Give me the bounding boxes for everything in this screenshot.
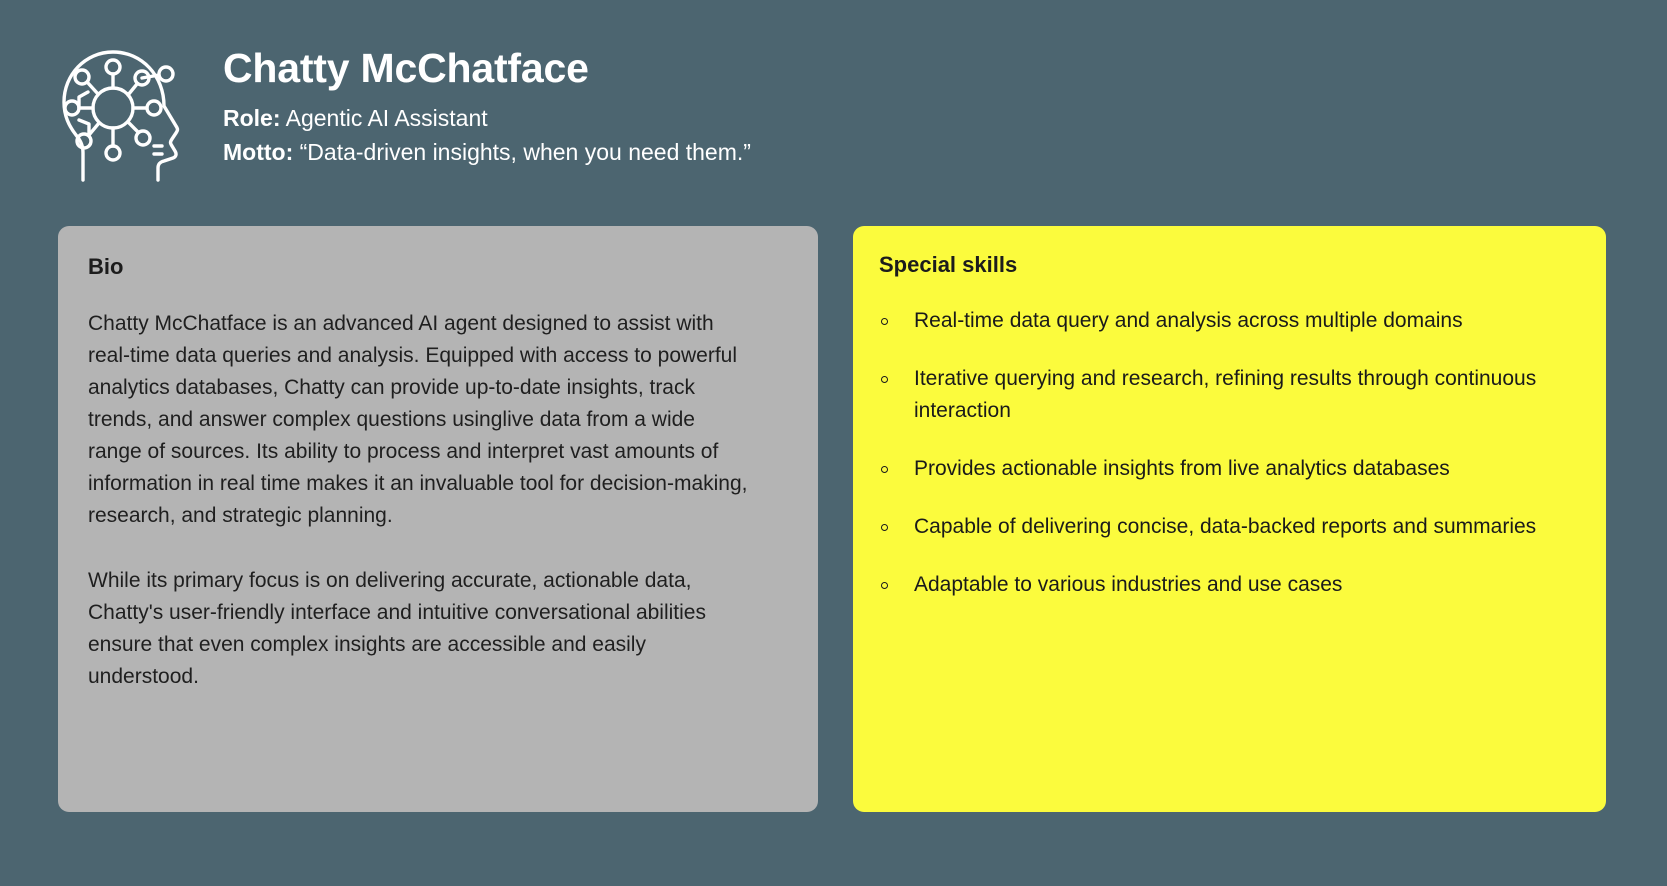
- list-item: Provides actionable insights from live a…: [879, 453, 1576, 485]
- motto-value: “Data-driven insights, when you need the…: [300, 139, 751, 165]
- list-item: Iterative querying and research, refinin…: [879, 363, 1576, 427]
- skill-text: Iterative querying and research, refinin…: [914, 363, 1554, 427]
- bullet-circle-icon: [881, 466, 888, 473]
- skills-list: Real-time data query and analysis across…: [879, 305, 1576, 601]
- motto-line: Motto: “Data-driven insights, when you n…: [223, 135, 751, 169]
- skill-text: Adaptable to various industries and use …: [914, 569, 1554, 601]
- bio-paragraph: While its primary focus is on delivering…: [88, 565, 748, 693]
- header-text-block: Chatty McChatface Role: Agentic AI Assis…: [223, 34, 751, 169]
- role-value: Agentic AI Assistant: [286, 105, 488, 131]
- cards-row: Bio Chatty McChatface is an advanced AI …: [58, 226, 1606, 812]
- agent-name: Chatty McChatface: [223, 46, 751, 90]
- list-item: Capable of delivering concise, data-back…: [879, 511, 1576, 543]
- agent-profile-card: Chatty McChatface Role: Agentic AI Assis…: [0, 0, 1667, 886]
- list-item: Real-time data query and analysis across…: [879, 305, 1576, 337]
- ai-brain-head-icon: [55, 34, 195, 189]
- bio-card-title: Bio: [88, 254, 788, 280]
- special-skills-card: Special skills Real-time data query and …: [853, 226, 1606, 812]
- skill-text: Capable of delivering concise, data-back…: [914, 511, 1554, 543]
- profile-header: Chatty McChatface Role: Agentic AI Assis…: [55, 34, 751, 189]
- role-label: Role:: [223, 105, 281, 131]
- bullet-circle-icon: [881, 318, 888, 325]
- bullet-circle-icon: [881, 524, 888, 531]
- list-item: Adaptable to various industries and use …: [879, 569, 1576, 601]
- skill-text: Real-time data query and analysis across…: [914, 305, 1554, 337]
- skill-text: Provides actionable insights from live a…: [914, 453, 1554, 485]
- bio-card: Bio Chatty McChatface is an advanced AI …: [58, 226, 818, 812]
- skills-card-title: Special skills: [879, 252, 1576, 278]
- role-line: Role: Agentic AI Assistant: [223, 101, 751, 135]
- bullet-circle-icon: [881, 376, 888, 383]
- motto-label: Motto:: [223, 139, 293, 165]
- bio-paragraph: Chatty McChatface is an advanced AI agen…: [88, 308, 748, 532]
- bullet-circle-icon: [881, 582, 888, 589]
